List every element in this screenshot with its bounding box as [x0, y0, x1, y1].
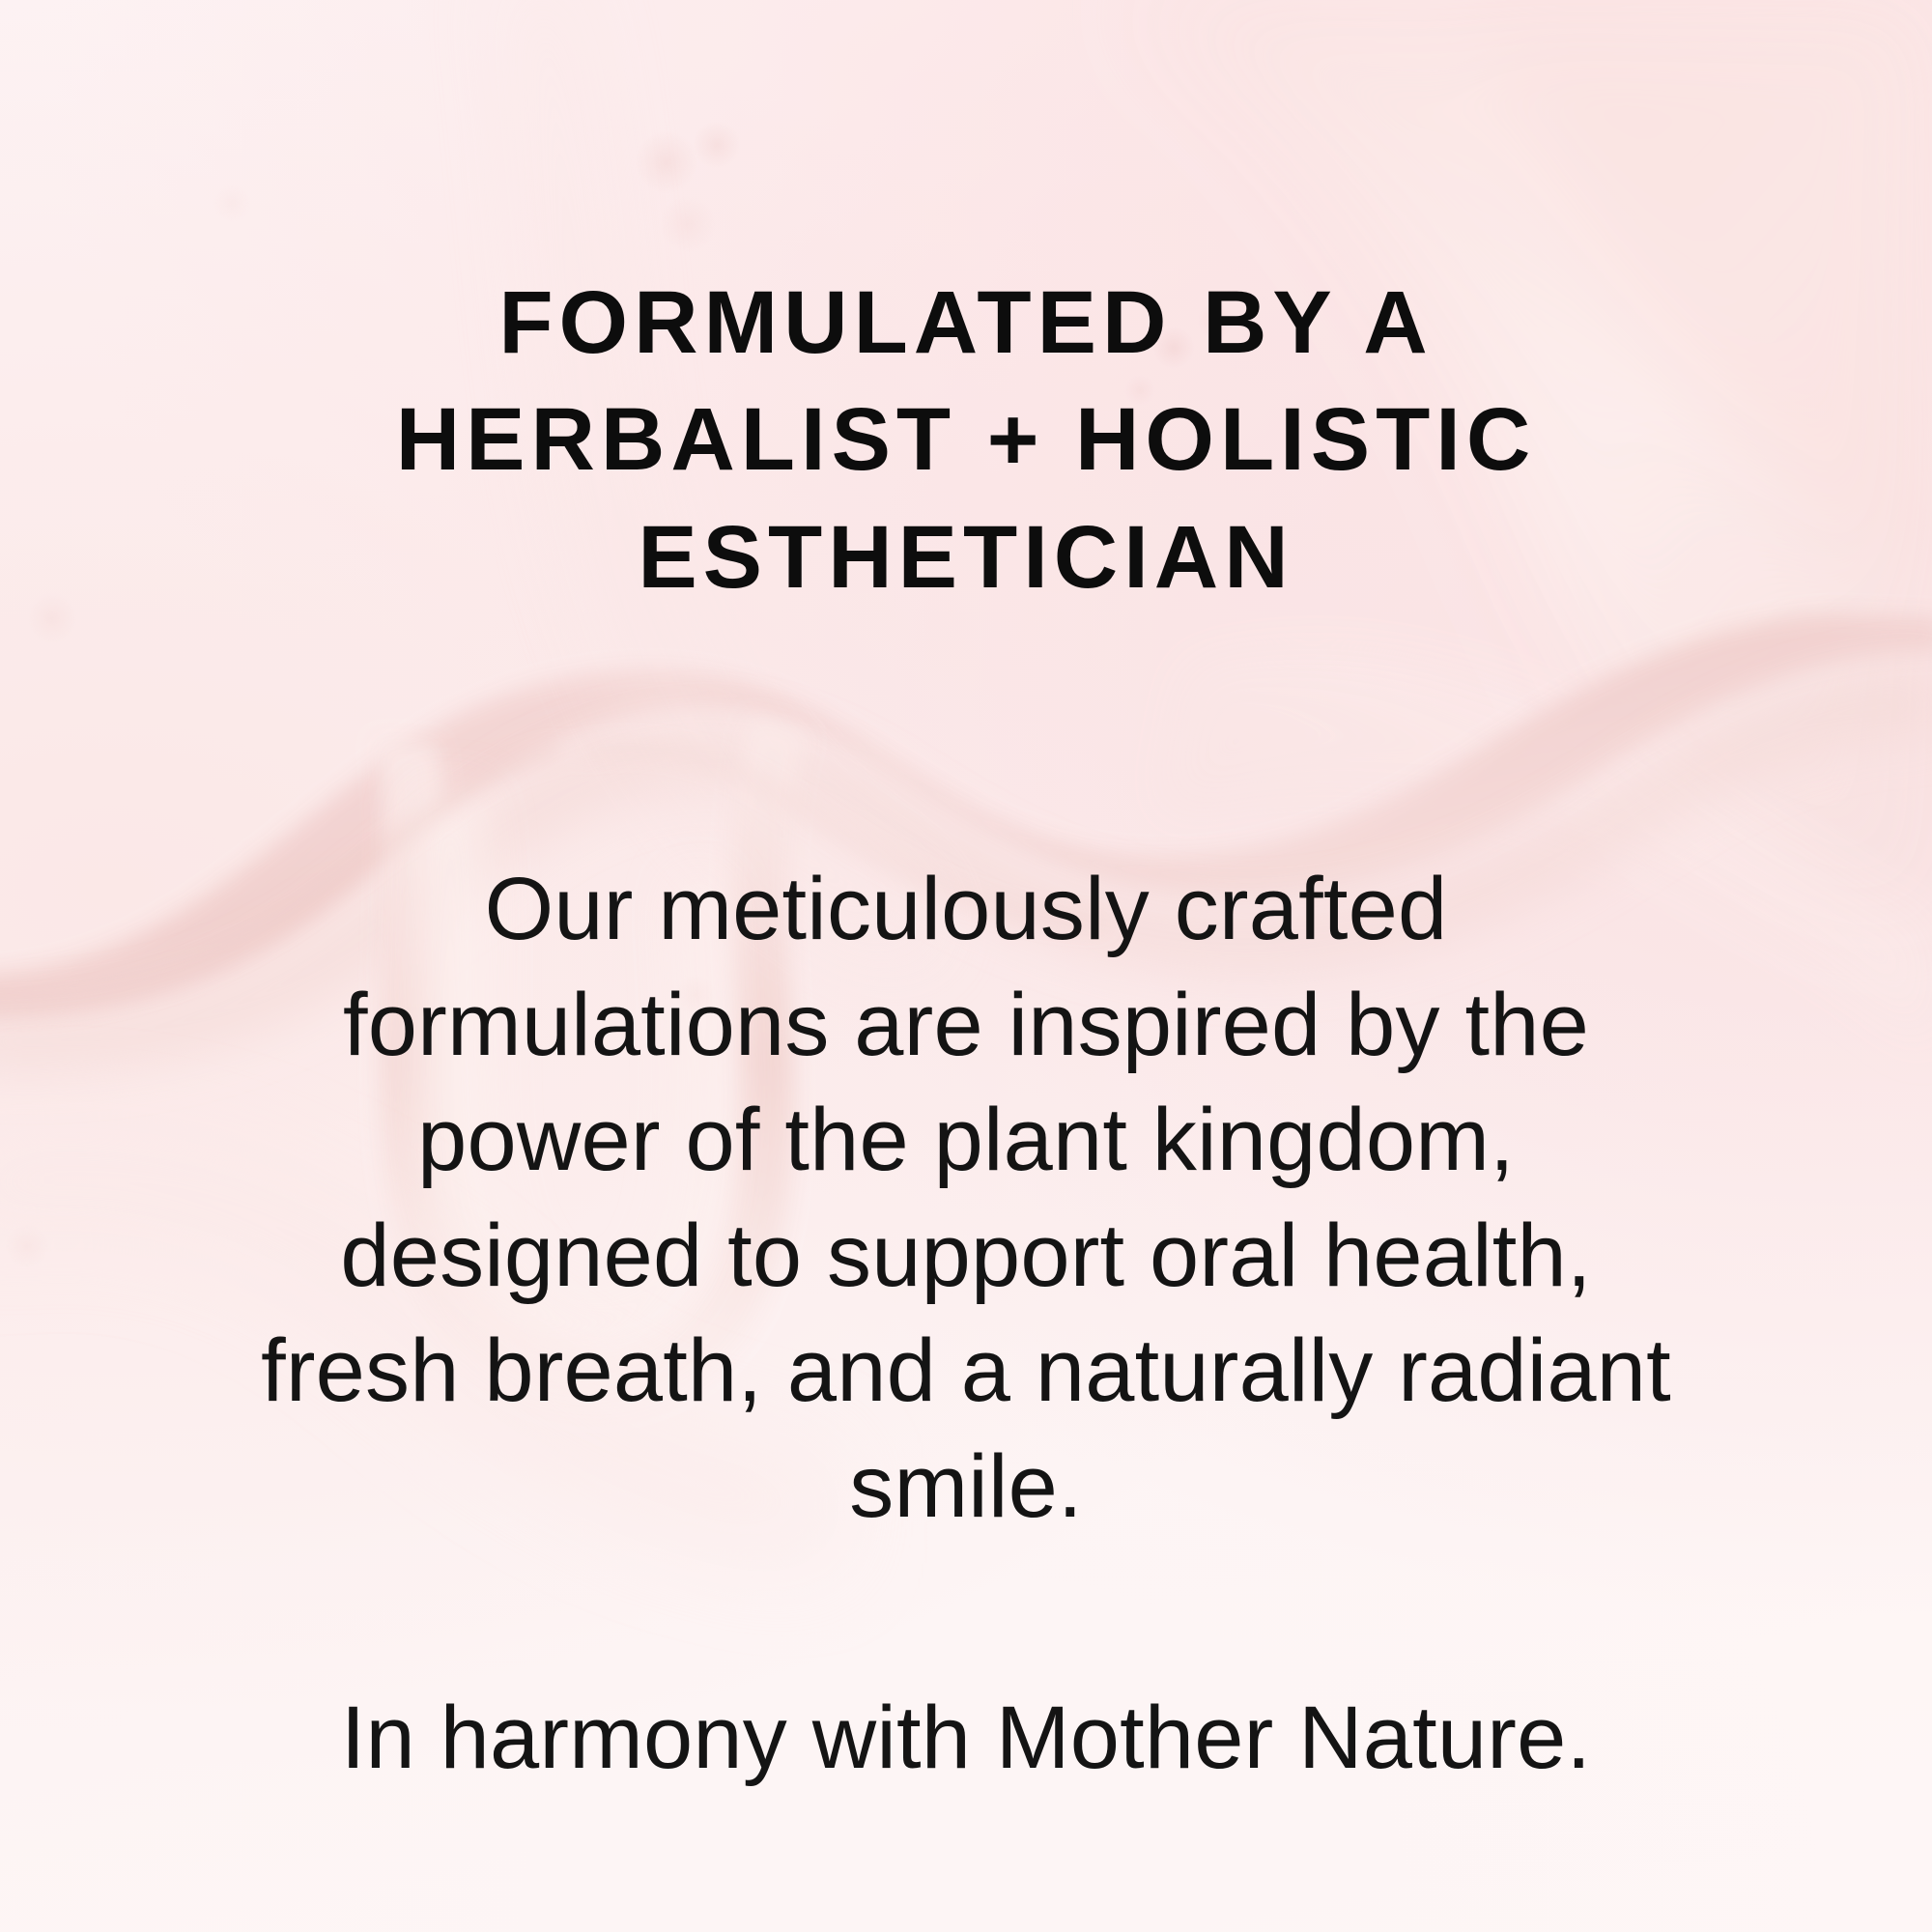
- body-line-5: fresh breath, and a naturally radiant: [77, 1314, 1855, 1430]
- closing-statement: In harmony with Mother Nature.: [0, 1681, 1932, 1797]
- page-title: FORMULATED BY A HERBALIST + HOLISTIC EST…: [0, 265, 1932, 616]
- headline-line-1: FORMULATED BY A: [116, 265, 1816, 382]
- headline-line-3: ESTHETICIAN: [116, 499, 1816, 616]
- body-line-6: smile.: [77, 1430, 1855, 1546]
- content-container: FORMULATED BY A HERBALIST + HOLISTIC EST…: [0, 0, 1932, 1932]
- body-line-2: formulations are inspired by the: [77, 968, 1855, 1084]
- body-line-1: Our meticulously crafted: [77, 852, 1855, 968]
- body-line-4: designed to support oral health,: [77, 1199, 1855, 1315]
- marketing-card: FORMULATED BY A HERBALIST + HOLISTIC EST…: [0, 0, 1932, 1932]
- body-paragraph: Our meticulously crafted formulations ar…: [0, 852, 1932, 1546]
- body-line-3: power of the plant kingdom,: [77, 1083, 1855, 1199]
- headline-line-2: HERBALIST + HOLISTIC: [116, 382, 1816, 498]
